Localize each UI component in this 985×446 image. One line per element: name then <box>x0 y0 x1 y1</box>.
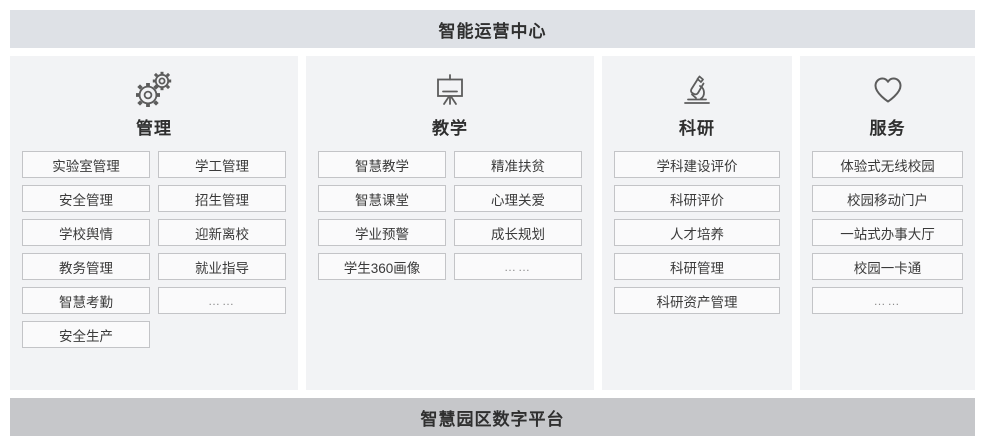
list-item[interactable]: 实验室管理 <box>22 151 150 178</box>
card-title-teaching: 教学 <box>432 114 468 139</box>
list-item[interactable]: 一站式办事大厅 <box>812 219 963 246</box>
card-title-manage: 管理 <box>136 114 172 139</box>
category-card-manage[interactable]: 管理 实验室管理 学工管理 安全管理 招生管理 学校舆情 迎新离校 教务管理 就… <box>10 56 298 390</box>
item-grid-teaching: 智慧教学 精准扶贫 智慧课堂 心理关爱 学业预警 成长规划 学生360画像 …… <box>318 151 582 280</box>
list-item[interactable]: 科研评价 <box>614 185 780 212</box>
footer-banner: 智慧园区数字平台 <box>10 398 975 436</box>
list-item[interactable]: 就业指导 <box>158 253 286 280</box>
category-card-research[interactable]: 科研 学科建设评价 科研评价 人才培养 科研管理 科研资产管理 <box>602 56 792 390</box>
list-item[interactable]: 心理关爱 <box>454 185 582 212</box>
list-item[interactable]: 安全生产 <box>22 321 150 348</box>
list-item[interactable]: 学校舆情 <box>22 219 150 246</box>
list-item[interactable]: 成长规划 <box>454 219 582 246</box>
list-item[interactable]: 教务管理 <box>22 253 150 280</box>
list-item[interactable]: 安全管理 <box>22 185 150 212</box>
microscope-icon <box>676 68 718 112</box>
item-grid-service: 体验式无线校园 校园移动门户 一站式办事大厅 校园一卡通 …… <box>812 151 963 314</box>
list-item-more[interactable]: …… <box>158 287 286 314</box>
category-columns: 管理 实验室管理 学工管理 安全管理 招生管理 学校舆情 迎新离校 教务管理 就… <box>10 56 975 390</box>
list-item[interactable]: 校园移动门户 <box>812 185 963 212</box>
gears-icon <box>133 68 175 112</box>
list-item[interactable]: 精准扶贫 <box>454 151 582 178</box>
architecture-diagram: 智能运营中心 <box>0 0 985 446</box>
card-title-service: 服务 <box>870 114 906 139</box>
item-grid-manage: 实验室管理 学工管理 安全管理 招生管理 学校舆情 迎新离校 教务管理 就业指导… <box>22 151 286 348</box>
list-item-more[interactable]: …… <box>812 287 963 314</box>
easel-icon <box>429 68 471 112</box>
list-item[interactable]: 校园一卡通 <box>812 253 963 280</box>
item-grid-research: 学科建设评价 科研评价 人才培养 科研管理 科研资产管理 <box>614 151 780 314</box>
list-item[interactable]: 学生360画像 <box>318 253 446 280</box>
category-card-teaching[interactable]: 教学 智慧教学 精准扶贫 智慧课堂 心理关爱 学业预警 成长规划 学生360画像… <box>306 56 594 390</box>
list-item[interactable]: 体验式无线校园 <box>812 151 963 178</box>
footer-title: 智慧园区数字平台 <box>421 405 565 430</box>
list-item[interactable]: 学业预警 <box>318 219 446 246</box>
list-item[interactable]: 科研管理 <box>614 253 780 280</box>
heart-icon <box>867 68 909 112</box>
list-item[interactable]: 人才培养 <box>614 219 780 246</box>
list-item-more[interactable]: …… <box>454 253 582 280</box>
list-item[interactable]: 迎新离校 <box>158 219 286 246</box>
list-item[interactable]: 智慧教学 <box>318 151 446 178</box>
category-card-service[interactable]: 服务 体验式无线校园 校园移动门户 一站式办事大厅 校园一卡通 …… <box>800 56 975 390</box>
list-item[interactable]: 智慧考勤 <box>22 287 150 314</box>
list-item[interactable]: 招生管理 <box>158 185 286 212</box>
header-title: 智能运营中心 <box>439 17 547 42</box>
list-item[interactable]: 学工管理 <box>158 151 286 178</box>
card-title-research: 科研 <box>679 114 715 139</box>
list-item[interactable]: 智慧课堂 <box>318 185 446 212</box>
list-item[interactable]: 科研资产管理 <box>614 287 780 314</box>
list-item[interactable]: 学科建设评价 <box>614 151 780 178</box>
header-banner: 智能运营中心 <box>10 10 975 48</box>
